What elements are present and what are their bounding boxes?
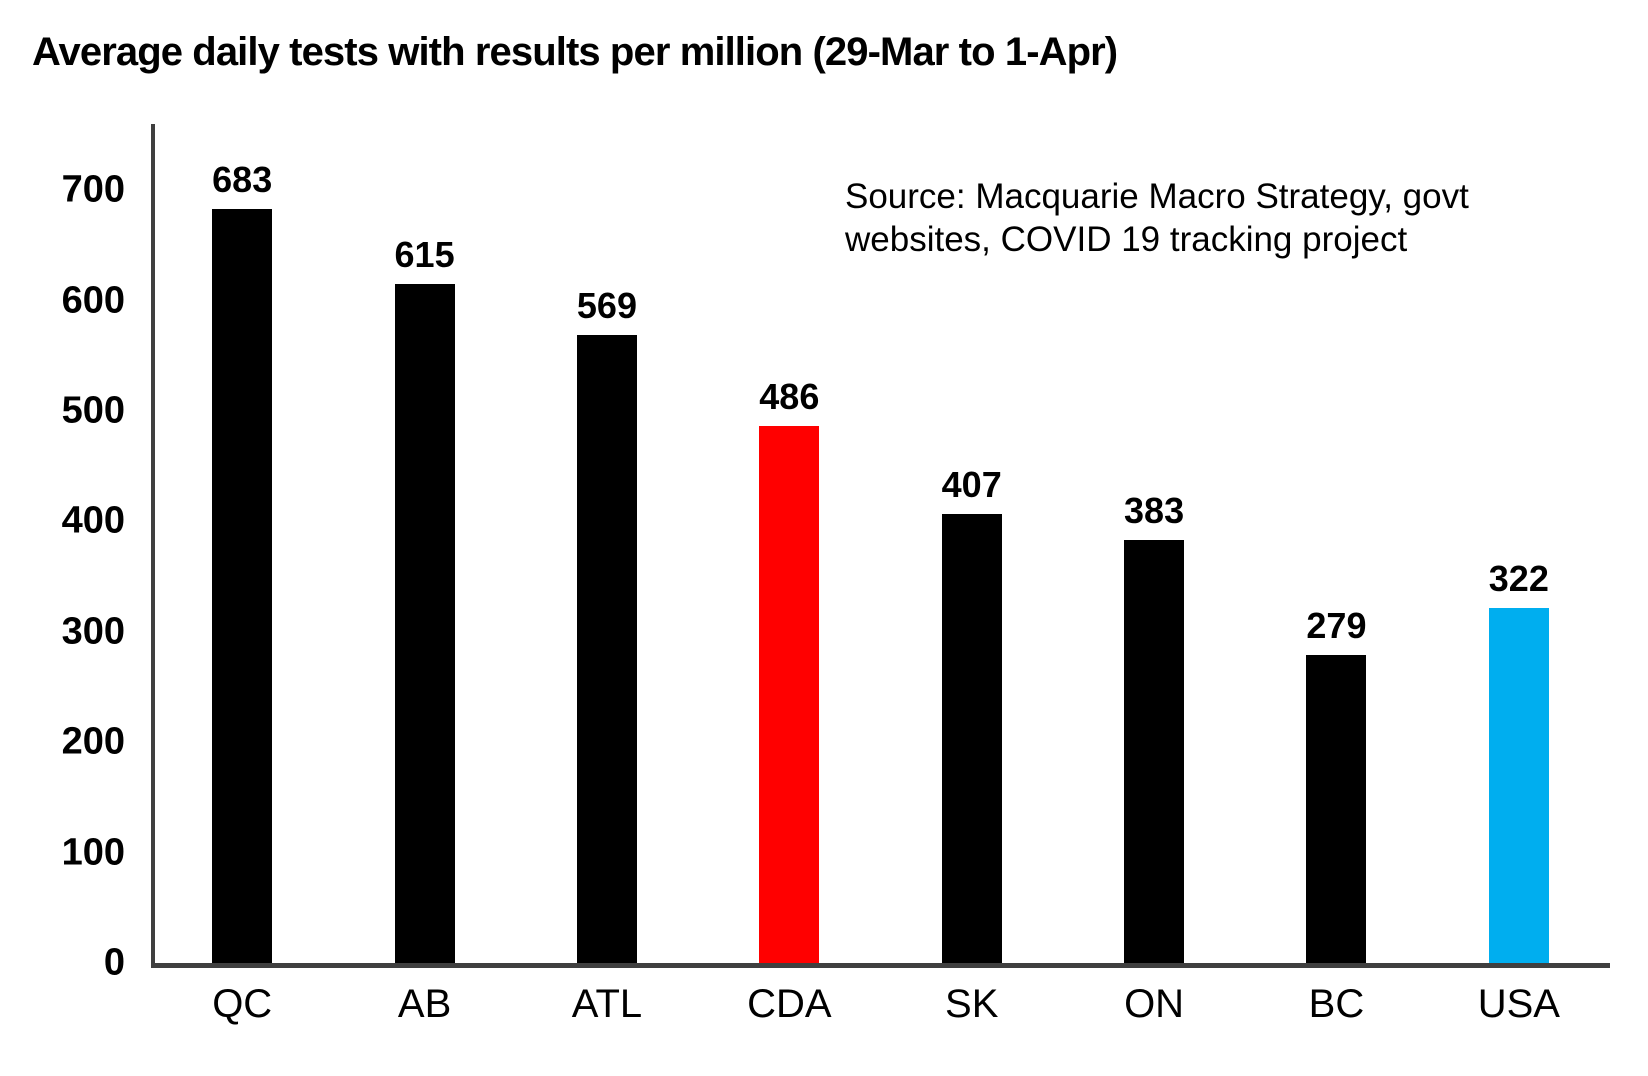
y-axis-tick-label: 200 (5, 721, 125, 764)
y-axis-tick-label: 500 (5, 390, 125, 433)
y-axis-tick-label: 300 (5, 610, 125, 653)
y-axis-tick-label: 0 (5, 942, 125, 985)
bar-value-label: 683 (212, 159, 272, 201)
chart-page: Average daily tests with results per mil… (0, 0, 1648, 1076)
bar-fill (212, 209, 272, 963)
bar-fill (577, 335, 637, 963)
bar-value-label: 407 (942, 464, 1002, 506)
bar-bc[interactable]: 279 (1306, 655, 1366, 963)
bar-on[interactable]: 383 (1124, 540, 1184, 963)
x-axis-label-sk: SK (945, 982, 998, 1027)
bar-ab[interactable]: 615 (395, 284, 455, 963)
x-axis-label-atl: ATL (572, 982, 642, 1027)
y-axis-tick-label: 400 (5, 500, 125, 543)
bar-atl[interactable]: 569 (577, 335, 637, 963)
x-axis-label-bc: BC (1309, 982, 1365, 1027)
bar-value-label: 279 (1306, 605, 1366, 647)
bar-cda[interactable]: 486 (759, 426, 819, 963)
y-axis-line (151, 124, 155, 968)
bar-value-label: 383 (1124, 490, 1184, 532)
page-title: Average daily tests with results per mil… (32, 30, 1117, 75)
x-axis-category-labels: QCABATLCDASKONBCUSA (151, 982, 1610, 1052)
bar-fill (1306, 655, 1366, 963)
bar-qc[interactable]: 683 (212, 209, 272, 963)
x-axis-label-usa: USA (1478, 982, 1560, 1027)
x-axis-label-qc: QC (212, 982, 272, 1027)
x-axis-label-ab: AB (398, 982, 451, 1027)
x-axis-label-cda: CDA (747, 982, 831, 1027)
y-axis-tick-label: 600 (5, 279, 125, 322)
x-axis-label-on: ON (1124, 982, 1184, 1027)
bar-value-label: 486 (759, 376, 819, 418)
bar-usa[interactable]: 322 (1489, 608, 1549, 963)
bar-fill (395, 284, 455, 963)
y-axis-tick-label: 700 (5, 169, 125, 212)
plot-area: 0100200300400500600700 68361556948640738… (151, 124, 1610, 968)
bar-fill (1489, 608, 1549, 963)
bar-fill (759, 426, 819, 963)
bar-value-label: 569 (577, 285, 637, 327)
x-axis-line (151, 963, 1610, 968)
bar-fill (1124, 540, 1184, 963)
bar-value-label: 615 (395, 234, 455, 276)
bar-sk[interactable]: 407 (942, 514, 1002, 963)
bar-value-label: 322 (1489, 558, 1549, 600)
y-axis-tick-label: 100 (5, 831, 125, 874)
bar-fill (942, 514, 1002, 963)
